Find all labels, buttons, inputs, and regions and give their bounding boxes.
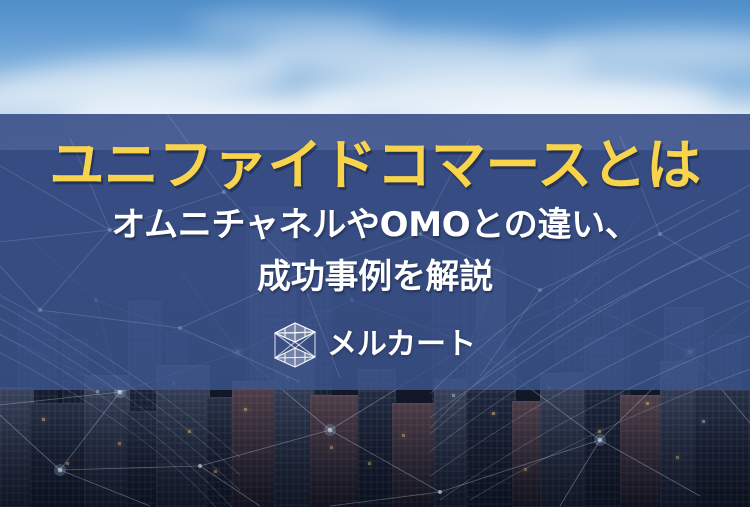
brand-name-label: メルカート [327,330,476,360]
subtitle-line-2: 成功事例を解説 [0,248,750,300]
mercart-diamond-icon [274,322,316,368]
page-title: ユニファイドコマースとは [0,114,750,196]
banner-content: ユニファイドコマースとは オムニチャネルやOMOとの違い、 成功事例を解説 [0,114,750,390]
hero-banner: ユニファイドコマースとは オムニチャネルやOMOとの違い、 成功事例を解説 [0,0,750,507]
brand-logo[interactable]: メルカート [0,322,750,368]
subtitle-line-1: オムニチャネルやOMOとの違い、 [0,196,750,248]
